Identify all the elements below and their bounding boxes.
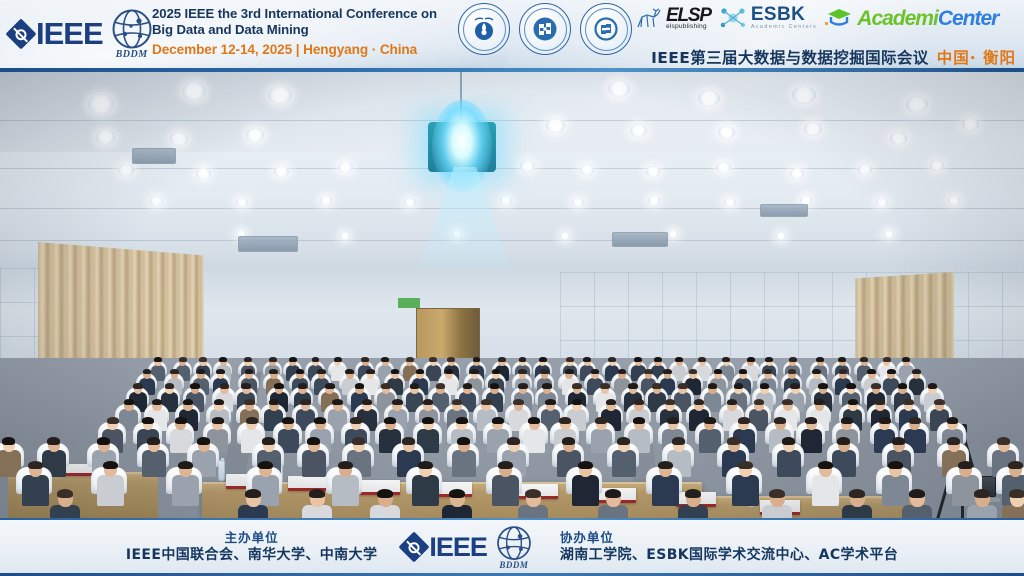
audience-member-hair bbox=[381, 383, 391, 389]
ceiling-downlight bbox=[580, 164, 594, 175]
audience-member-hair bbox=[296, 369, 305, 374]
audience-member-hair bbox=[818, 461, 833, 470]
audience-member-hair bbox=[644, 369, 653, 374]
audience-member-hair bbox=[947, 417, 959, 424]
audience-member-hair bbox=[722, 357, 730, 362]
audience-member-torso bbox=[732, 475, 759, 506]
audience-member-hair bbox=[402, 437, 415, 445]
audience-member-hair bbox=[246, 417, 258, 424]
audience-member-hair bbox=[812, 369, 821, 374]
footer-ieee-wordmark: IEEE bbox=[429, 532, 487, 563]
audience-member-hair bbox=[605, 489, 621, 499]
audience-member-hair bbox=[355, 383, 365, 389]
ceiling-downlight bbox=[646, 166, 660, 177]
ceiling-downlight bbox=[790, 168, 804, 179]
ceiling-downlight bbox=[560, 232, 570, 240]
audience-member-hair bbox=[566, 357, 574, 362]
audience-member-hair bbox=[103, 461, 118, 470]
graduation-cap-icon bbox=[824, 5, 854, 31]
audience-member-hair bbox=[782, 399, 792, 405]
audience-member-torso bbox=[492, 475, 519, 506]
audience-member-hair bbox=[898, 383, 908, 389]
audience-member bbox=[410, 462, 441, 508]
audience-member-hair bbox=[406, 357, 414, 362]
audience-member-hair bbox=[352, 437, 365, 445]
ceiling-downlight bbox=[182, 82, 206, 100]
audience-member-torso bbox=[172, 475, 199, 506]
audience-member bbox=[676, 490, 710, 518]
audience-member-hair bbox=[300, 399, 310, 405]
ceiling-downlight bbox=[716, 162, 731, 173]
elsp-sub: elspublishing bbox=[666, 24, 711, 31]
audience-member-hair bbox=[519, 357, 527, 362]
audience-member-hair bbox=[216, 369, 225, 374]
audience-member-hair bbox=[888, 461, 903, 470]
ceiling-vent bbox=[612, 232, 668, 247]
audience-member-hair bbox=[154, 357, 162, 362]
audience-member-hair bbox=[362, 399, 372, 405]
audience-member-hair bbox=[814, 399, 824, 405]
audience-member-hair bbox=[175, 417, 187, 424]
elsp-logo: ELSP elspublishing bbox=[634, 5, 711, 31]
audience-member-hair bbox=[361, 357, 369, 362]
audience-member-hair bbox=[513, 399, 523, 405]
audience-member-torso bbox=[801, 429, 823, 453]
audience-member bbox=[300, 490, 334, 518]
audience-member bbox=[900, 490, 934, 518]
ceiling-downlight bbox=[930, 160, 944, 171]
ceiling-downlight bbox=[876, 198, 888, 207]
audience-member-hair bbox=[473, 357, 481, 362]
audience-member-hair bbox=[179, 357, 187, 362]
audience-member-hair bbox=[658, 461, 673, 470]
audience-member-hair bbox=[219, 357, 227, 362]
side-desk-right bbox=[692, 496, 912, 518]
audience-member-hair bbox=[492, 369, 501, 374]
audience-member-hair bbox=[818, 383, 828, 389]
audience-member-hair bbox=[416, 369, 425, 374]
audience-member-hair bbox=[410, 383, 420, 389]
ceiling-downlight bbox=[890, 132, 907, 145]
ceiling-seam bbox=[0, 240, 1024, 241]
audience-member-hair bbox=[220, 383, 230, 389]
audience-member-hair bbox=[262, 437, 275, 445]
audience-member-torso bbox=[812, 475, 839, 506]
audience-member-hair bbox=[377, 489, 393, 499]
audience-member-hair bbox=[338, 461, 353, 470]
audience-member-hair bbox=[212, 417, 224, 424]
audience-member-hair bbox=[591, 369, 600, 374]
ceiling-downlight bbox=[170, 132, 188, 146]
audience-member bbox=[610, 438, 637, 479]
audience-member-hair bbox=[540, 369, 549, 374]
audience-member-torso bbox=[142, 450, 166, 477]
footer-bddm-label: BDDM bbox=[494, 560, 534, 570]
audience-member-hair bbox=[628, 383, 638, 389]
audience-member-hair bbox=[422, 417, 434, 424]
ieee-diamond-icon bbox=[399, 531, 430, 562]
audience-member-hair bbox=[147, 437, 160, 445]
academi-word: Academi bbox=[857, 7, 938, 30]
audience-member-hair bbox=[314, 417, 326, 424]
esbk-main: ESBK bbox=[751, 5, 817, 24]
audience-member-hair bbox=[738, 461, 753, 470]
audience-member-hair bbox=[258, 461, 273, 470]
audience-member-hair bbox=[2, 437, 15, 445]
audience-member bbox=[1000, 490, 1024, 518]
audience-member-hair bbox=[214, 399, 224, 405]
audience-member-hair bbox=[764, 369, 773, 374]
audience-member-hair bbox=[788, 369, 797, 374]
audience-member-torso bbox=[97, 475, 124, 506]
host-label: 主办单位 bbox=[126, 530, 378, 546]
audience-member-hair bbox=[47, 437, 60, 445]
ceiling-downlight bbox=[118, 164, 134, 176]
audience-member-hair bbox=[107, 417, 119, 424]
header-banner: IEEE BDDM 2025 IEEE the 3rd Internationa… bbox=[0, 0, 1024, 72]
ceiling-vent bbox=[238, 236, 298, 252]
audience-member-hair bbox=[909, 417, 921, 424]
audience-member-hair bbox=[269, 369, 278, 374]
ceiling-downlight bbox=[520, 160, 535, 172]
sponsor-logos: ELSP elspublishing ESBK Academic Centers bbox=[634, 4, 998, 32]
audience-member-hair bbox=[423, 399, 433, 405]
audience-member-hair bbox=[789, 357, 797, 362]
audience-member-hair bbox=[562, 437, 575, 445]
university-emblem-central-south bbox=[519, 3, 571, 55]
header-ieee-bddm-logos: IEEE BDDM bbox=[10, 8, 155, 60]
audience-member-hair bbox=[634, 399, 644, 405]
bddm-globe-icon bbox=[109, 8, 155, 52]
audience-member-hair bbox=[816, 357, 824, 362]
audience-member-hair bbox=[325, 383, 335, 389]
audience-member bbox=[95, 462, 126, 508]
audience-member-hair bbox=[429, 357, 437, 362]
chinese-conference-title: IEEE第三届大数据与数据挖掘国际会议 bbox=[651, 46, 929, 68]
audience-member-hair bbox=[958, 461, 973, 470]
audience-member-hair bbox=[634, 357, 642, 362]
audience-member-hair bbox=[463, 383, 473, 389]
ceiling-downlight bbox=[340, 232, 350, 240]
audience-member-hair bbox=[839, 369, 848, 374]
audience-member-hair bbox=[452, 399, 462, 405]
audience-member-hair bbox=[738, 417, 750, 424]
audience-member-hair bbox=[837, 437, 850, 445]
audience-member-torso bbox=[572, 475, 599, 506]
ceiling-downlight bbox=[274, 166, 289, 177]
ceiling-downlight bbox=[572, 198, 584, 207]
audience-member-hair bbox=[269, 399, 279, 405]
audience-member bbox=[810, 462, 841, 508]
conference-title-line2: Big Data and Data Mining bbox=[152, 22, 452, 38]
ieee-wordmark: IEEE bbox=[36, 16, 103, 52]
audience-member-hair bbox=[754, 399, 764, 405]
audience-member-hair bbox=[667, 417, 679, 424]
audience-member-hair bbox=[456, 417, 468, 424]
ceiling-downlight bbox=[668, 230, 678, 238]
ceiling-vent bbox=[132, 148, 176, 164]
audience-member-hair bbox=[492, 417, 504, 424]
audience-member-hair bbox=[997, 437, 1010, 445]
audience-member-hair bbox=[317, 369, 326, 374]
audience-member-hair bbox=[708, 383, 718, 389]
audience-member-hair bbox=[903, 399, 913, 405]
audience-member-hair bbox=[190, 383, 200, 389]
audience-member-hair bbox=[183, 399, 193, 405]
audience-member-hair bbox=[436, 383, 446, 389]
audience-member-torso bbox=[452, 450, 476, 477]
ceiling-downlight bbox=[546, 118, 565, 133]
audience-member-hair bbox=[734, 383, 744, 389]
audience-member-hair bbox=[678, 383, 688, 389]
audience-member bbox=[516, 490, 550, 518]
audience-member-hair bbox=[244, 399, 254, 405]
audience-member-hair bbox=[345, 369, 354, 374]
academicenter-text: AcademiCenter bbox=[857, 8, 998, 29]
ceiling-vent bbox=[760, 204, 808, 217]
audience-member-hair bbox=[245, 369, 254, 374]
footer-logos: IEEE BDDM bbox=[403, 525, 534, 570]
audience-member-hair bbox=[727, 399, 737, 405]
audience-member-hair bbox=[909, 489, 925, 499]
footer-ieee-logo: IEEE bbox=[403, 532, 487, 563]
audience-member-hair bbox=[867, 369, 876, 374]
audience-member-hair bbox=[199, 357, 207, 362]
audience-member-hair bbox=[760, 383, 770, 389]
audience-member-hair bbox=[381, 357, 389, 362]
ceiling-downlight bbox=[608, 80, 630, 97]
water-bottle bbox=[218, 460, 225, 481]
ceiling-seam bbox=[0, 208, 1024, 209]
audience-member-hair bbox=[392, 399, 402, 405]
audience-member-hair bbox=[481, 399, 491, 405]
ceiling-slope bbox=[0, 72, 1024, 152]
footer-bddm-logo: BDDM bbox=[494, 525, 534, 570]
audience-member bbox=[48, 490, 82, 518]
audience-member-hair bbox=[871, 383, 881, 389]
esbk-logo: ESBK Academic Centers bbox=[718, 4, 817, 32]
audience-member-hair bbox=[765, 357, 773, 362]
audience-member-hair bbox=[298, 383, 308, 389]
audience-member-hair bbox=[672, 437, 685, 445]
audience-member-hair bbox=[838, 357, 846, 362]
hnit-emblem-icon bbox=[591, 14, 621, 44]
audience-member-hair bbox=[418, 461, 433, 470]
audience-member-hair bbox=[875, 399, 885, 405]
audience-member-hair bbox=[747, 357, 755, 362]
audience-member-hair bbox=[507, 437, 520, 445]
audience-member bbox=[775, 438, 802, 479]
audience-member-hair bbox=[846, 383, 856, 389]
elsp-text: ELSP elspublishing bbox=[666, 6, 711, 31]
audience-member-hair bbox=[332, 399, 342, 405]
audience-member-hair bbox=[572, 399, 582, 405]
audience-member-hair bbox=[490, 383, 500, 389]
audience-member-hair bbox=[498, 461, 513, 470]
footer-banner: 主办单位 IEEE中国联合会、南华大学、中南大学 IEEE BDDM bbox=[0, 518, 1024, 576]
ceiling-downlight bbox=[268, 86, 292, 104]
ceiling-downlight bbox=[88, 94, 114, 114]
ceiling-downlight bbox=[338, 162, 353, 173]
audience-member-hair bbox=[274, 383, 284, 389]
audience-member-hair bbox=[665, 399, 675, 405]
audience-member-torso bbox=[412, 475, 439, 506]
audience-member-torso bbox=[332, 475, 359, 506]
audience-member bbox=[170, 462, 201, 508]
academicenter-logo: AcademiCenter bbox=[824, 5, 998, 31]
audience-member-hair bbox=[28, 461, 43, 470]
audience-member-hair bbox=[518, 369, 527, 374]
audience-member bbox=[840, 490, 874, 518]
cohost-organizations: 湖南工学院、ESBK国际学术交流中心、AC学术平台 bbox=[560, 546, 898, 565]
audience-member-torso bbox=[612, 450, 636, 477]
audience-member-hair bbox=[714, 369, 723, 374]
audience-member-hair bbox=[366, 369, 375, 374]
esbk-text: ESBK Academic Centers bbox=[751, 5, 817, 30]
audience-member-hair bbox=[334, 357, 342, 362]
audience-member-hair bbox=[848, 399, 858, 405]
audience-member-hair bbox=[269, 357, 277, 362]
host-organizations: IEEE中国联合会、南华大学、中南大学 bbox=[126, 546, 378, 565]
header-title-block: 2025 IEEE the 3rd International Conferen… bbox=[152, 6, 452, 58]
audience-member-hair bbox=[689, 369, 698, 374]
ceiling-seam bbox=[0, 120, 1024, 121]
ceiling-downlight bbox=[404, 198, 416, 207]
audience-member-hair bbox=[790, 383, 800, 389]
audience-member-hair bbox=[618, 369, 627, 374]
audience-member-hair bbox=[449, 489, 465, 499]
audience-member-hair bbox=[447, 357, 455, 362]
university-emblem-hunan-tech bbox=[580, 3, 632, 55]
conference-banner-page: IEEE BDDM 2025 IEEE the 3rd Internationa… bbox=[0, 0, 1024, 576]
audience-member-hair bbox=[704, 417, 716, 424]
audience-member-hair bbox=[633, 417, 645, 424]
audience-member-hair bbox=[197, 369, 206, 374]
audience-member-hair bbox=[57, 489, 73, 499]
audience-member-hair bbox=[350, 417, 362, 424]
ceiling-downlight bbox=[804, 122, 822, 136]
audience-member-hair bbox=[727, 437, 740, 445]
audience-member-hair bbox=[902, 357, 910, 362]
audience-member bbox=[596, 490, 630, 518]
audience-member-hair bbox=[457, 437, 470, 445]
audience-member bbox=[140, 438, 167, 479]
audience-member-hair bbox=[152, 399, 162, 405]
audience-member-hair bbox=[860, 357, 868, 362]
ceiling-downlight bbox=[884, 230, 894, 238]
conference-date-venue: December 12-14, 2025 | Hengyang · China bbox=[152, 41, 452, 58]
audience-member-hair bbox=[698, 357, 706, 362]
ceiling-downlight bbox=[906, 96, 928, 113]
audience-member-hair bbox=[545, 399, 555, 405]
ieee-logo: IEEE bbox=[10, 16, 103, 52]
university-emblems bbox=[458, 3, 632, 55]
audience-member bbox=[730, 462, 761, 508]
audience-member-hair bbox=[97, 437, 110, 445]
audience-member-hair bbox=[391, 369, 400, 374]
audience-member-hair bbox=[312, 357, 320, 362]
audience-member-hair bbox=[805, 417, 817, 424]
audience-member-hair bbox=[947, 437, 960, 445]
audience-member-torso bbox=[22, 475, 49, 506]
audience-member-hair bbox=[606, 399, 616, 405]
audience-member-hair bbox=[245, 489, 261, 499]
audience-member-hair bbox=[289, 357, 297, 362]
audience-member-hair bbox=[912, 369, 921, 374]
ceiling-downlight bbox=[236, 198, 248, 207]
audience-member-hair bbox=[572, 383, 582, 389]
audience-member-hair bbox=[934, 399, 944, 405]
audience-member-hair bbox=[445, 369, 454, 374]
audience-member bbox=[450, 438, 477, 479]
chinese-title-row: IEEE第三届大数据与数据挖掘国际会议 中国· 衡阳 bbox=[651, 46, 1016, 68]
ceiling-downlight bbox=[196, 168, 211, 179]
audience-member-hair bbox=[133, 383, 143, 389]
audience-member-hair bbox=[892, 437, 905, 445]
host-block: 主办单位 IEEE中国联合会、南华大学、中南大学 bbox=[126, 530, 378, 565]
ceiling-downlight bbox=[724, 198, 736, 207]
audience-member-hair bbox=[739, 369, 748, 374]
audience-member-hair bbox=[879, 417, 891, 424]
audience-member-torso bbox=[1002, 505, 1024, 518]
audience-member-hair bbox=[652, 383, 662, 389]
audience-member-hair bbox=[774, 417, 786, 424]
elsp-main: ELSP bbox=[666, 6, 711, 25]
audience-member-hair bbox=[663, 369, 672, 374]
audience-member-hair bbox=[309, 489, 325, 499]
audience-member-hair bbox=[578, 461, 593, 470]
audience-member bbox=[965, 490, 999, 518]
audience-member-hair bbox=[1009, 489, 1024, 499]
audience-member-torso bbox=[302, 450, 326, 477]
audience-member-hair bbox=[498, 357, 506, 362]
university-emblem-south-china bbox=[458, 3, 510, 55]
audience-member-hair bbox=[470, 369, 479, 374]
audience-member-hair bbox=[694, 399, 704, 405]
audience-member bbox=[760, 490, 794, 518]
audience-member-hair bbox=[769, 489, 785, 499]
network-burst-icon bbox=[718, 4, 748, 32]
audience-member-hair bbox=[595, 417, 607, 424]
audience-member bbox=[20, 462, 51, 508]
ceiling-downlight bbox=[320, 196, 332, 205]
ceiling-downlight bbox=[698, 90, 720, 107]
deer-icon bbox=[634, 5, 664, 31]
audience-member bbox=[330, 462, 361, 508]
audience-member-hair bbox=[974, 489, 990, 499]
conference-group-photo bbox=[0, 72, 1024, 518]
ceiling-downlight bbox=[648, 196, 660, 205]
audience-member bbox=[236, 490, 270, 518]
audience-member-hair bbox=[124, 399, 134, 405]
audience-member-hair bbox=[559, 417, 571, 424]
audience-member-hair bbox=[675, 357, 683, 362]
audience-member-hair bbox=[384, 417, 396, 424]
audience-member-hair bbox=[282, 417, 294, 424]
ceiling-downlight bbox=[630, 124, 647, 137]
audience-member-hair bbox=[539, 357, 547, 362]
audience-member-hair bbox=[244, 357, 252, 362]
audience-member-hair bbox=[525, 489, 541, 499]
audience-member-hair bbox=[887, 369, 896, 374]
audience-member-hair bbox=[165, 383, 175, 389]
center-word: Center bbox=[938, 7, 999, 30]
cohost-label: 协办单位 bbox=[560, 530, 898, 546]
ceiling-downlight bbox=[792, 86, 816, 104]
audience-member-torso bbox=[777, 450, 801, 477]
audience-member-hair bbox=[654, 357, 662, 362]
ceiling-downlight bbox=[96, 130, 115, 144]
